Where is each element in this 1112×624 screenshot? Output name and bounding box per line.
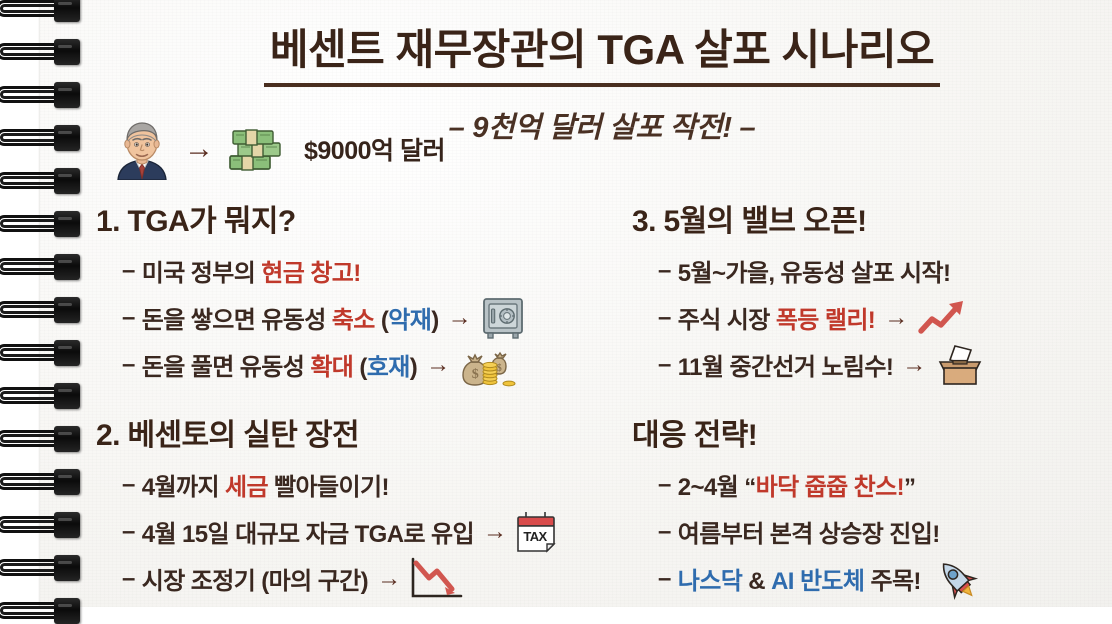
spiral-ring <box>0 39 80 65</box>
bullet-text: 미국 정부의 현금 창고! <box>142 253 361 288</box>
bullet-text: 나스닥 & AI 반도체 주목! <box>678 561 921 596</box>
spiral-ring <box>0 82 80 108</box>
bullet-dash: – <box>122 565 135 593</box>
section-heading: 대응 전략! <box>632 410 1112 454</box>
list-item: – 나스닥 & AI 반도체 주목! <box>658 555 1112 602</box>
section-tga-what: 1. TGA가 뭐지? – 미국 정부의 현금 창고! – 돈을 쌓으면 유동성… <box>96 196 616 388</box>
rocket-icon <box>934 556 980 602</box>
bullet-text: 5월~가을, 유동성 살포 시작! <box>678 253 951 288</box>
hero-arrow-icon: → <box>184 134 214 164</box>
arrow-icon: → <box>902 351 925 379</box>
spiral-ring <box>0 297 80 323</box>
bullet-dash: – <box>658 518 671 546</box>
money-stack-icon <box>224 122 290 176</box>
bullet-dash: – <box>658 304 671 332</box>
arrow-icon: → <box>377 565 400 593</box>
list-item: – 4월까지 세금 빨아들이기! <box>122 461 616 508</box>
notebook-page: 베센트 재무장관의 TGA 살포 시나리오 – 9천억 달러 살포 작전! – <box>0 0 1112 607</box>
bullet-text: 주식 시장 폭등 랠리! <box>678 300 875 335</box>
spiral-ring <box>0 383 80 409</box>
arrow-icon: → <box>448 304 471 332</box>
bullet-dash: – <box>122 518 135 546</box>
list-item: – 11월 중간선거 노림수! → <box>658 341 1112 388</box>
hero-amount-label: $9000억 달러 <box>304 131 445 167</box>
list-item: – 4월 15일 대규모 자금 TGA로 유입 → TAX <box>122 508 616 555</box>
hero-row: → <box>110 118 445 180</box>
ballot-box-icon <box>935 342 985 388</box>
section-heading: 2. 베센토의 실탄 장전 <box>96 410 616 454</box>
bullet-dash: – <box>658 257 671 285</box>
spiral-ring <box>0 469 80 495</box>
bullet-dash: – <box>122 471 135 499</box>
money-bags-icon: $ $ <box>459 342 521 388</box>
bullet-dash: – <box>658 565 671 593</box>
bullet-text: 4월까지 세금 빨아들이기! <box>142 467 389 502</box>
section-may-valve-open: 3. 5월의 밸브 오픈! – 5월~가을, 유동성 살포 시작! – 주식 시… <box>632 196 1112 388</box>
bullet-text: 11월 중간선거 노림수! <box>678 347 894 382</box>
bullet-dash: – <box>122 304 135 332</box>
arrow-icon: → <box>426 351 449 379</box>
bullet-dash: – <box>658 471 671 499</box>
right-column: 3. 5월의 밸브 오픈! – 5월~가을, 유동성 살포 시작! – 주식 시… <box>632 196 1112 602</box>
bullet-text: 4월 15일 대규모 자금 TGA로 유입 <box>142 514 474 549</box>
section-heading: 3. 5월의 밸브 오픈! <box>632 196 1112 240</box>
bullet-text: 돈을 쌓으면 유동성 축소 (악재) <box>142 300 439 335</box>
bullet-text: 여름부터 본격 상승장 진입! <box>678 514 940 549</box>
spiral-ring <box>0 254 80 280</box>
section-strategy: 대응 전략! – 2~4월 “바닥 줍줍 찬스!” – 여름부터 본격 상승장 … <box>632 410 1112 602</box>
list-item: – 2~4월 “바닥 줍줍 찬스!” <box>658 461 1112 508</box>
list-item: – 돈을 풀면 유동성 확대 (호재) → $ $ <box>122 341 616 388</box>
spiral-ring <box>0 426 80 452</box>
page-title: 베센트 재무장관의 TGA 살포 시나리오 <box>264 24 940 87</box>
list-item: – 5월~가을, 유동성 살포 시작! <box>658 247 1112 294</box>
bullet-dash: – <box>658 351 671 379</box>
list-item: – 시장 조정기 (마의 구간) → <box>122 555 616 602</box>
spiral-ring <box>0 555 80 581</box>
bullet-dash: – <box>122 351 135 379</box>
list-item: – 주식 시장 폭등 랠리! → <box>658 294 1112 341</box>
page-content: 베센트 재무장관의 TGA 살포 시나리오 – 9천억 달러 살포 작전! – <box>92 0 1112 607</box>
spiral-binding <box>0 0 92 607</box>
svg-text:TAX: TAX <box>524 529 548 544</box>
tax-calendar-icon: TAX <box>515 510 557 554</box>
safe-icon <box>480 296 526 340</box>
spiral-ring <box>0 512 80 538</box>
arrow-icon: → <box>884 304 907 332</box>
bullet-text: 시장 조정기 (마의 구간) <box>142 561 368 596</box>
spiral-ring <box>0 0 80 22</box>
spiral-ring <box>0 211 80 237</box>
title-area: 베센트 재무장관의 TGA 살포 시나리오 <box>92 24 1112 87</box>
section-heading: 1. TGA가 뭐지? <box>96 196 616 240</box>
spiral-ring <box>0 340 80 366</box>
arrow-icon: → <box>483 518 506 546</box>
spiral-ring <box>0 168 80 194</box>
bullet-dash: – <box>122 257 135 285</box>
spiral-ring <box>0 598 80 624</box>
bullet-text: 2~4월 “바닥 줍줍 찬스!” <box>678 467 916 502</box>
chart-down-icon <box>409 556 465 602</box>
bullet-text: 돈을 풀면 유동성 확대 (호재) <box>142 347 417 382</box>
section-loading-ammo: 2. 베센토의 실탄 장전 – 4월까지 세금 빨아들이기! – 4월 15일 … <box>96 410 616 602</box>
spiral-ring <box>0 125 80 151</box>
list-item: – 여름부터 본격 상승장 진입! <box>658 508 1112 555</box>
bessent-portrait-icon <box>110 118 174 180</box>
list-item: – 돈을 쌓으면 유동성 축소 (악재) → <box>122 294 616 341</box>
svg-text:$: $ <box>471 367 478 382</box>
left-column: 1. TGA가 뭐지? – 미국 정부의 현금 창고! – 돈을 쌓으면 유동성… <box>96 196 616 602</box>
svg-text:$: $ <box>496 363 501 374</box>
chart-up-icon <box>917 297 971 339</box>
list-item: – 미국 정부의 현금 창고! <box>122 247 616 294</box>
